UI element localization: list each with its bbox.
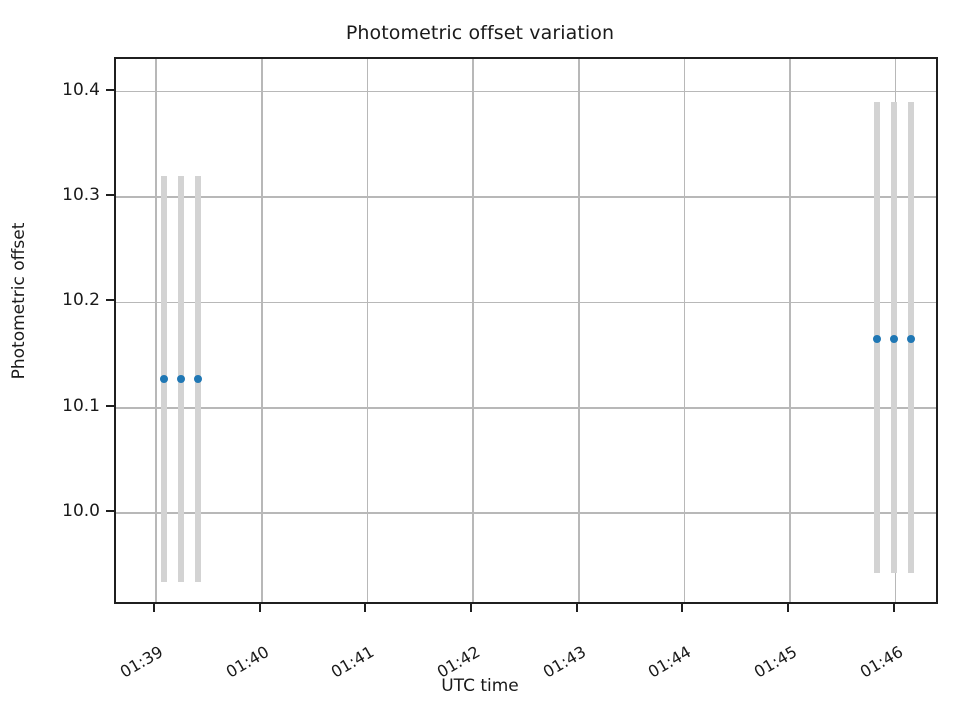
- gridline-vertical: [367, 59, 369, 602]
- y-axis-tick-label: 10.3: [62, 185, 100, 205]
- y-axis-tick-label: 10.4: [62, 80, 100, 100]
- gridline-horizontal: [116, 196, 936, 198]
- gridline-vertical: [472, 59, 474, 602]
- x-axis-tick-label: 01:40: [262, 619, 311, 659]
- x-axis-tick-label: 01:42: [474, 619, 523, 659]
- gridline-vertical: [789, 59, 791, 602]
- gridline-vertical: [684, 59, 686, 602]
- y-axis-tick-label: 10.2: [62, 290, 100, 310]
- gridline-vertical: [261, 59, 263, 602]
- x-axis-label: UTC time: [0, 676, 960, 696]
- x-axis-tick-mark: [681, 604, 683, 612]
- y-axis-tick-mark: [106, 510, 114, 512]
- gridline-vertical: [578, 59, 580, 602]
- x-axis-tick-label: 01:44: [685, 619, 734, 659]
- chart-title: Photometric offset variation: [0, 22, 960, 44]
- x-axis-tick-label: 01:43: [579, 619, 628, 659]
- x-axis-tick-mark: [893, 604, 895, 612]
- y-axis-tick-label: 10.0: [62, 501, 100, 521]
- data-point: [890, 335, 898, 343]
- x-axis-tick-mark: [787, 604, 789, 612]
- x-axis-tick-mark: [364, 604, 366, 612]
- x-axis-tick-mark: [576, 604, 578, 612]
- gridline-horizontal: [116, 91, 936, 93]
- y-axis-tick-mark: [106, 299, 114, 301]
- y-axis-tick-mark: [106, 89, 114, 91]
- plot-area: [114, 57, 938, 604]
- y-axis-tick-mark: [106, 194, 114, 196]
- y-axis-tick-label: 10.1: [62, 396, 100, 416]
- data-point: [177, 375, 185, 383]
- x-axis-tick-mark: [470, 604, 472, 612]
- gridline-horizontal: [116, 512, 936, 514]
- x-axis-tick-mark: [259, 604, 261, 612]
- data-point: [194, 375, 202, 383]
- x-axis-tick-label: 01:41: [368, 619, 417, 659]
- figure-canvas: Photometric offset variation Photometric…: [0, 0, 960, 720]
- data-point: [907, 335, 915, 343]
- x-axis-tick-mark: [153, 604, 155, 612]
- data-point: [160, 375, 168, 383]
- y-axis-tick-mark: [106, 405, 114, 407]
- gridline-horizontal: [116, 302, 936, 304]
- gridline-horizontal: [116, 407, 936, 409]
- data-point: [873, 335, 881, 343]
- x-axis-tick-label: 01:39: [157, 619, 206, 659]
- x-axis-tick-label: 01:45: [791, 619, 840, 659]
- y-axis-tick-labels: 10.010.110.210.310.4: [0, 57, 100, 604]
- gridline-vertical: [155, 59, 157, 602]
- x-axis-tick-label: 01:46: [896, 619, 945, 659]
